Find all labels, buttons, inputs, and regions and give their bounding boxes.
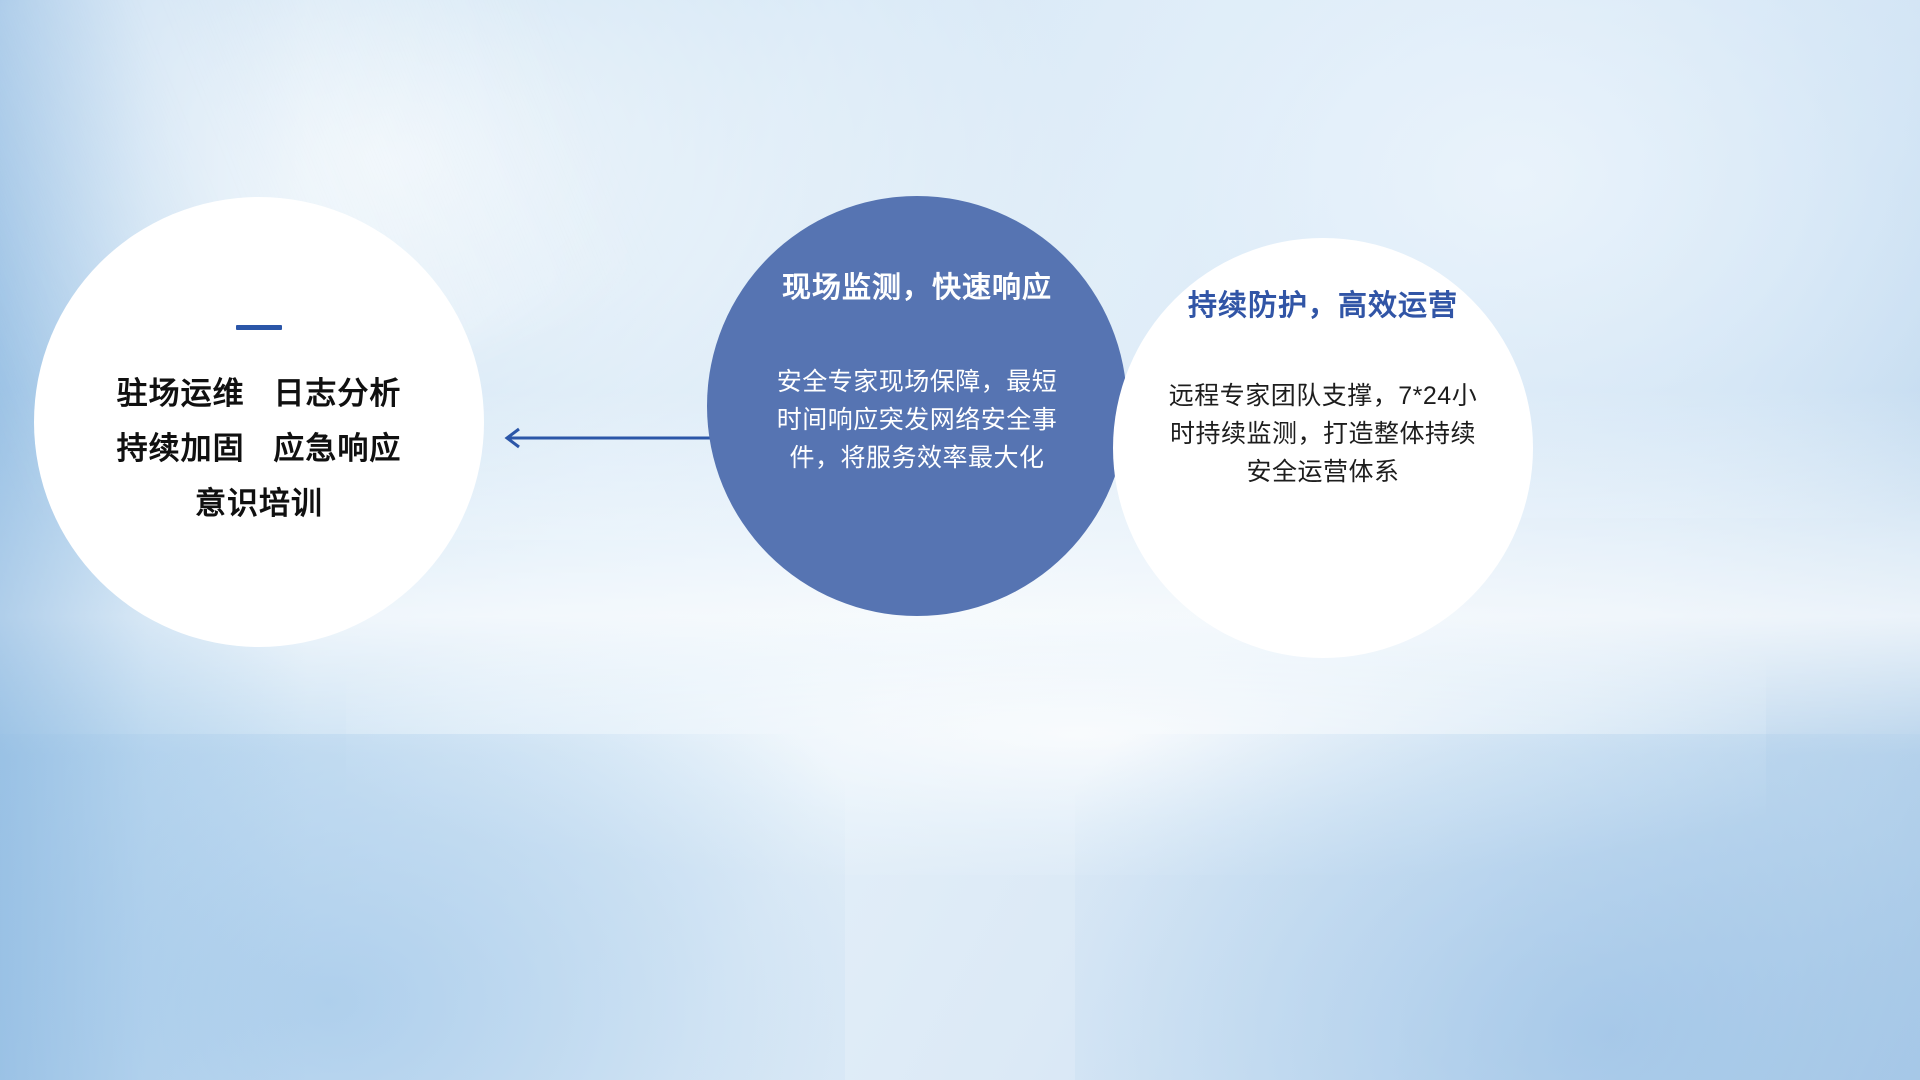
middle-onsite-monitoring-circle: 现场监测，快速响应 安全专家现场保障，最短时间响应突发网络安全事件，将服务效率最…: [707, 196, 1127, 616]
left-circle-label-list: 驻场运维 日志分析 持续加固 应急响应 意识培训: [56, 378, 462, 519]
left-capability-circle: 驻场运维 日志分析 持续加固 应急响应 意识培训: [34, 197, 484, 647]
right-continuous-protection-circle: 持续防护，高效运营 远程专家团队支撑，7*24小时持续监测，打造整体持续安全运营…: [1113, 238, 1533, 658]
background-glow-bottom-right: [1075, 734, 1920, 1080]
left-circle-line-3: 意识培训: [195, 488, 323, 519]
left-pointing-arrow-icon: [495, 424, 720, 452]
right-circle-body: 远程专家团队支撑，7*24小时持续监测，打造整体持续安全运营体系: [1158, 377, 1488, 491]
middle-circle-body: 安全专家现场保障，最短时间响应突发网络安全事件，将服务效率最大化: [767, 363, 1067, 477]
dash-accent-icon: [236, 325, 282, 330]
middle-circle-title: 现场监测，快速响应: [782, 274, 1052, 303]
right-circle-title: 持续防护，高效运营: [1188, 292, 1458, 321]
left-circle-line-1: 驻场运维 日志分析: [117, 378, 402, 409]
left-circle-line-2: 持续加固 应急响应: [117, 433, 402, 464]
